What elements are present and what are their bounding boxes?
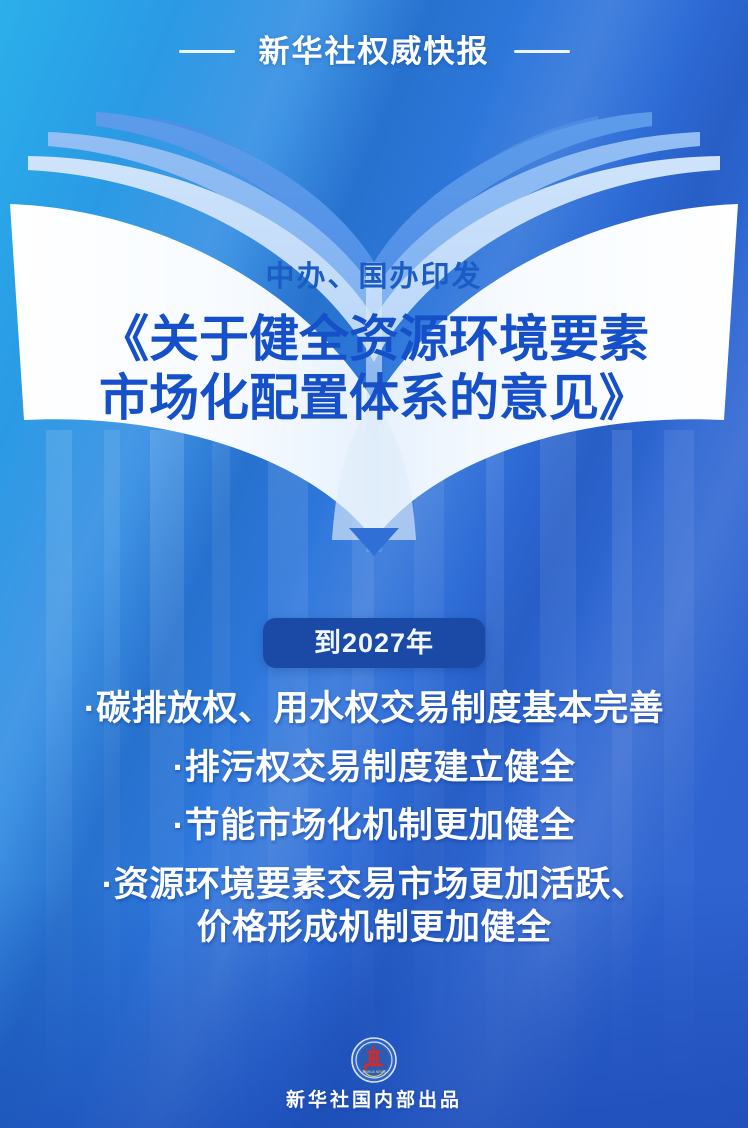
goal-list: ·碳排放权、用水权交易制度基本完善 ·排污权交易制度建立健全 ·节能市场化机制更… [0, 688, 748, 965]
xinhua-emblem-icon: XINHUA NEWS [351, 1037, 397, 1083]
list-item: ·排污权交易制度建立健全 [0, 747, 748, 790]
header-title: 新华社权威快报 [259, 36, 490, 67]
triangle-down-icon [349, 528, 399, 556]
title-block: 中办、国办印发 《关于健全资源环境要素 市场化配置体系的意见》 [0, 262, 748, 429]
header-dash-left [179, 50, 235, 53]
list-item: ·资源环境要素交易市场更加活跃、 价格形成机制更加健全 [0, 864, 748, 949]
list-item-line-2: 价格形成机制更加健全 [0, 907, 748, 950]
list-item: ·节能市场化机制更加健全 [0, 805, 748, 848]
issuer-kicker: 中办、国办印发 [0, 262, 748, 294]
document-title-line-1: 《关于健全资源环境要素 [40, 310, 708, 370]
poster-header: 新华社权威快报 [0, 36, 748, 67]
year-badge: 到2027年 [263, 618, 485, 668]
list-item: ·碳排放权、用水权交易制度基本完善 [0, 688, 748, 731]
list-item-line-1: ·资源环境要素交易市场更加活跃、 [102, 865, 647, 904]
header-dash-right [514, 50, 570, 53]
svg-text:XINHUA NEWS: XINHUA NEWS [362, 1070, 386, 1074]
document-title: 《关于健全资源环境要素 市场化配置体系的意见》 [0, 310, 748, 429]
poster-footer: XINHUA NEWS 新华社国内部出品 [0, 1037, 748, 1110]
footer-caption: 新华社国内部出品 [0, 1091, 748, 1110]
year-badge-label: 到2027年 [314, 630, 434, 657]
document-title-line-2: 市场化配置体系的意见》 [40, 369, 708, 429]
poster-canvas: 新华社权威快报 中办、国办印发 《关于健全资源环境要素 市场化配置体系的意见》 … [0, 0, 748, 1128]
